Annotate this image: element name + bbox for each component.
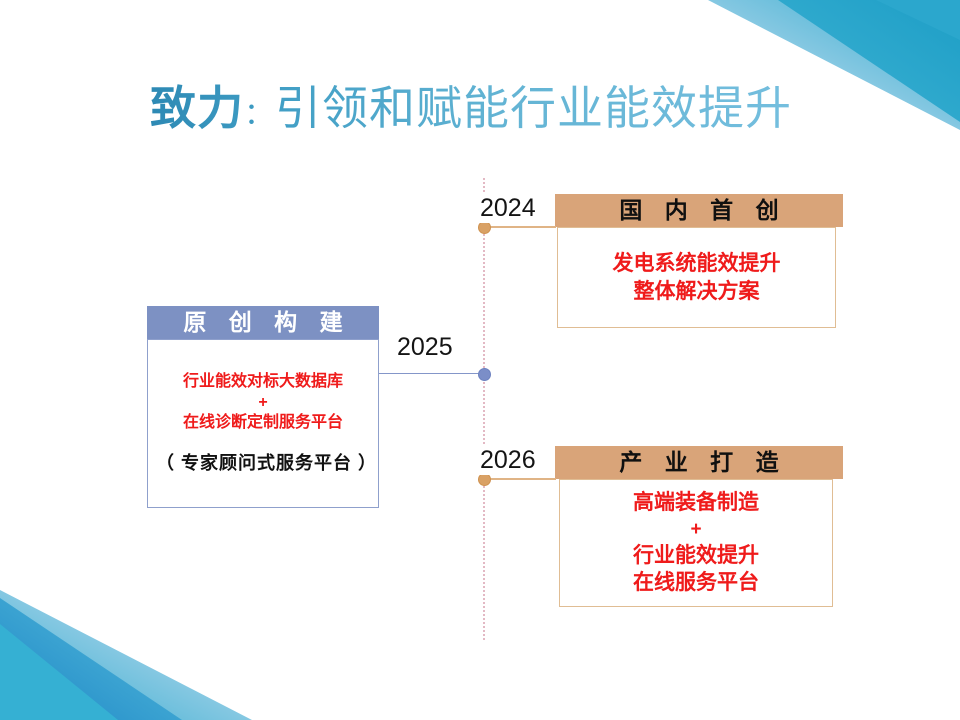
origin-line-2: 在线诊断定制服务平台 [183, 413, 343, 433]
card-industry-building[interactable]: 产 业 打 造 高端装备制造 + 行业能效提升 在线服务平台 [555, 446, 843, 607]
y2024-line-1: 发电系统能效提升 [613, 250, 781, 277]
card-original-construction-body: 行业能效对标大数据库 + 在线诊断定制服务平台 （ 专家顾问式服务平台 ） [147, 339, 379, 508]
connector-2025 [379, 373, 484, 374]
origin-line-1: 行业能效对标大数据库 [183, 372, 343, 392]
origin-plus: + [258, 393, 267, 413]
y2024-line-2: 整体解决方案 [634, 278, 760, 305]
card-domestic-first[interactable]: 国 内 首 创 发电系统能效提升 整体解决方案 [555, 194, 843, 328]
y2026-line-1: 高端装备制造 [633, 489, 759, 516]
title-colon: ： [244, 98, 275, 131]
connector-2024 [486, 226, 556, 228]
slide-canvas: 致力：引领和赋能行业能效提升 2024 2025 2026 原 创 构 建 行业… [0, 0, 960, 720]
card-domestic-first-body: 发电系统能效提升 整体解决方案 [557, 227, 836, 328]
card-industry-building-body: 高端装备制造 + 行业能效提升 在线服务平台 [559, 479, 833, 607]
title-prefix: 致力 [150, 83, 244, 134]
year-label-2026: 2026 [477, 446, 539, 475]
bottom-left-corner-decoration [0, 590, 300, 720]
title-rest: 引领和赋能行业能效提升 [275, 83, 792, 134]
timeline-axis [483, 178, 485, 640]
year-label-2025: 2025 [394, 333, 456, 362]
origin-note: （ 专家顾问式服务平台 ） [156, 449, 370, 475]
connector-2026 [486, 478, 556, 480]
y2026-line-3: 在线服务平台 [633, 569, 759, 596]
y2026-plus: + [690, 517, 701, 543]
card-original-construction[interactable]: 原 创 构 建 行业能效对标大数据库 + 在线诊断定制服务平台 （ 专家顾问式服… [147, 306, 379, 508]
y2026-line-2: 行业能效提升 [633, 542, 759, 569]
card-industry-building-header: 产 业 打 造 [555, 446, 843, 479]
card-original-construction-header: 原 创 构 建 [147, 306, 379, 339]
year-label-2024: 2024 [477, 194, 539, 223]
card-domestic-first-header: 国 内 首 创 [555, 194, 843, 227]
timeline-node-2025[interactable] [478, 368, 491, 381]
slide-title: 致力：引领和赋能行业能效提升 [150, 72, 792, 138]
